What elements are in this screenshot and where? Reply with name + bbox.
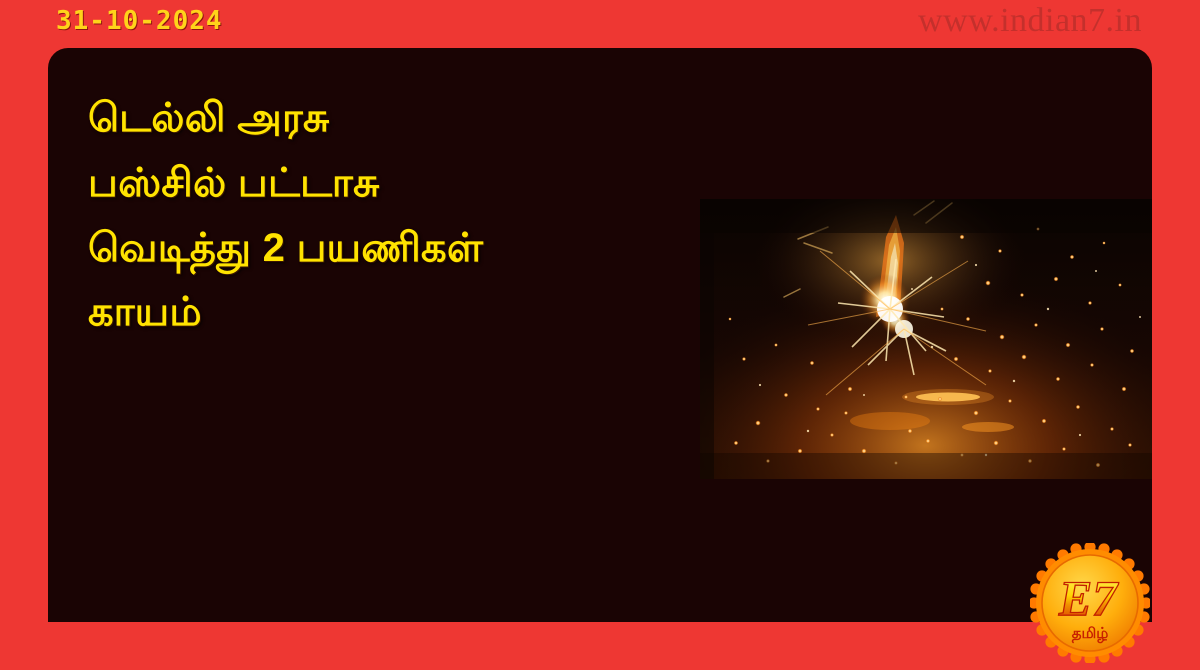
firework-photo bbox=[700, 199, 1152, 479]
news-card: டெல்லி அரசு பஸ்சில் பட்டாசு வெடித்து 2 ப… bbox=[48, 48, 1152, 622]
headline-line-3: வெடித்து 2 பயணிகள் bbox=[88, 216, 688, 281]
headline-line-2: பஸ்சில் பட்டாசு bbox=[88, 151, 688, 216]
logo-sub-text: தமிழ் bbox=[1072, 625, 1109, 643]
site-watermark: www.indian7.in bbox=[918, 2, 1142, 40]
e7-tamil-logo[interactable]: E7 தமிழ் bbox=[1030, 543, 1150, 663]
top-bar: 31-10-2024 www.indian7.in bbox=[0, 0, 1200, 48]
e7-logo-icon: E7 தமிழ் bbox=[1030, 543, 1150, 663]
publish-date: 31-10-2024 bbox=[56, 6, 223, 36]
firework-illustration bbox=[700, 199, 1152, 479]
headline-block: டெல்லி அரசு பஸ்சில் பட்டாசு வெடித்து 2 ப… bbox=[88, 86, 688, 345]
headline-line-4: காயம் bbox=[88, 280, 688, 345]
logo-mark-text: E7 bbox=[1058, 570, 1119, 626]
headline-line-1: டெல்லி அரசு bbox=[88, 86, 688, 151]
